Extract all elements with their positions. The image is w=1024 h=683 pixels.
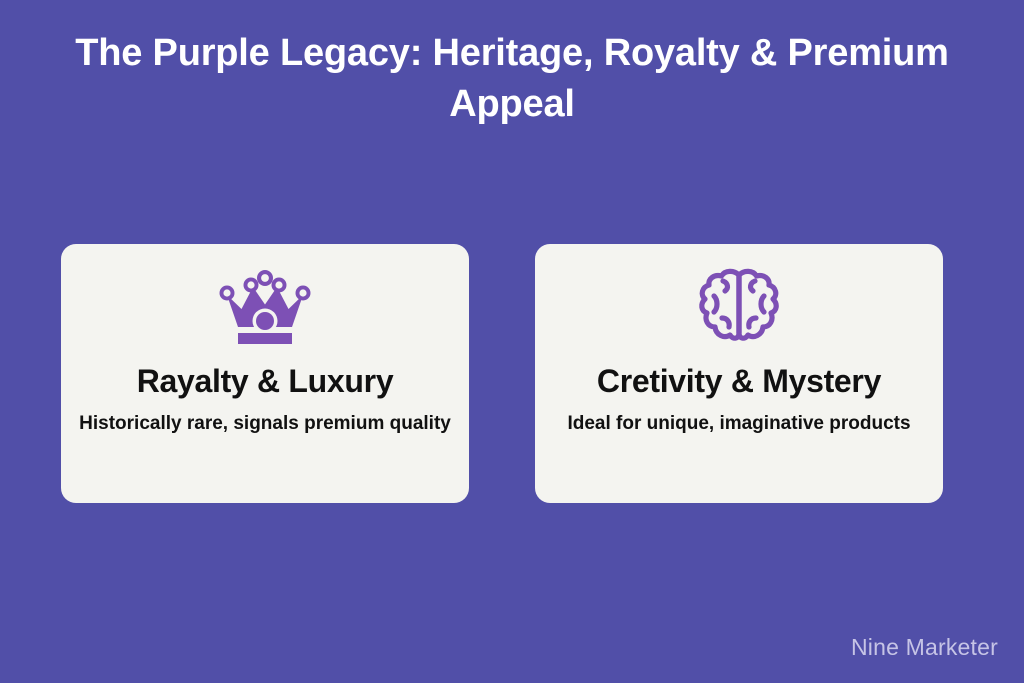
slide-canvas: The Purple Legacy: Heritage, Royalty & P… [0,0,1024,683]
brain-icon [696,264,782,346]
brand-watermark: Nine Marketer [851,634,998,661]
card-title: Cretivity & Mystery [597,364,881,399]
card-description: Historically rare, signals premium quali… [79,411,451,437]
page-title: The Purple Legacy: Heritage, Royalty & P… [0,28,1024,131]
card-royalty-luxury[interactable]: Rayalty & Luxury Historically rare, sign… [61,244,469,503]
card-title: Rayalty & Luxury [137,364,394,399]
card-creativity-mystery[interactable]: Cretivity & Mystery Ideal for unique, im… [535,244,943,503]
card-description: Ideal for unique, imaginative products [567,411,910,437]
crown-icon [217,264,313,346]
card-row: Rayalty & Luxury Historically rare, sign… [61,244,943,503]
